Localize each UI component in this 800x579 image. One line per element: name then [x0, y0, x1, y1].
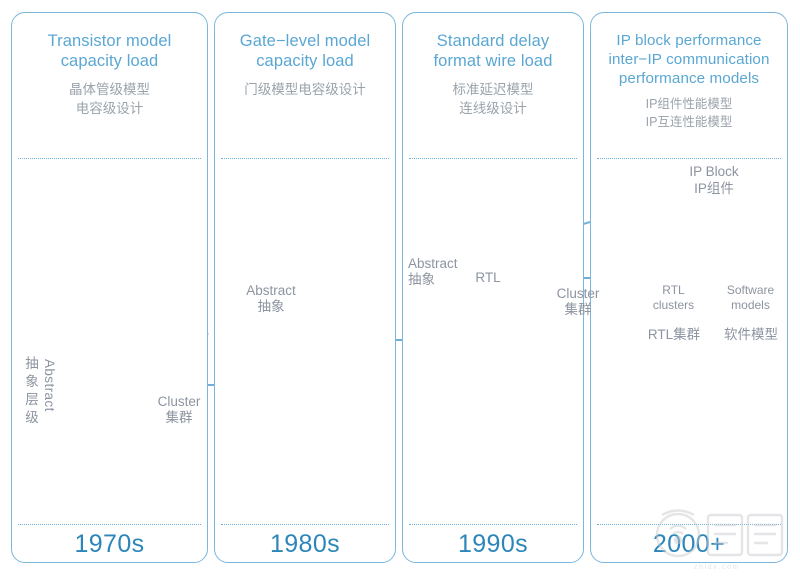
software-model-caption: 软件模型: [717, 327, 785, 343]
flow-label-en: Cluster: [547, 286, 609, 302]
stack-label-line1: Software: [726, 283, 775, 298]
flow-label-cn: 集群: [146, 410, 212, 426]
divider-top: [409, 158, 577, 159]
flow-label-abstract-3: Abstract 抽象: [408, 256, 468, 288]
ip-label-cn: IP组件: [650, 180, 778, 197]
divider-top: [18, 158, 201, 159]
axis-label-cn: 抽象层级: [22, 355, 42, 427]
flow-label-en: Abstract: [408, 256, 468, 272]
flow-label-cluster-1: Cluster 集群: [146, 394, 212, 426]
ip-label-en: IP Block: [650, 163, 778, 180]
diagram-canvas: Transistor model capacity load 晶体管级模型 电容…: [0, 0, 800, 579]
era-year: 1990s: [403, 524, 583, 564]
card-title-en: Standard delay format wire load: [413, 31, 573, 71]
card-title-cn: 标准延迟模型 连线级设计: [413, 80, 573, 118]
rtl-cluster-caption: RTL集群: [640, 327, 708, 343]
stack-label-line2: models: [726, 298, 775, 313]
era-year: 2000+: [591, 524, 787, 564]
card-header: Gate−level model capacity load 门级模型电容级设计: [215, 13, 395, 99]
card-header: IP block performance inter−IP communicat…: [591, 13, 787, 131]
flow-label-cn: 抽象: [238, 299, 304, 315]
divider-top: [597, 158, 781, 159]
card-header: Standard delay format wire load 标准延迟模型 连…: [403, 13, 583, 118]
flow-label-abstract-2: Abstract 抽象: [238, 283, 304, 315]
flow-label-cluster-3: Cluster 集群: [547, 286, 609, 318]
flow-label-cn: 抽象: [408, 272, 468, 288]
stack-caption: 软件模型: [717, 327, 785, 343]
stack-label-line2: clusters: [649, 298, 698, 313]
card-header: Transistor model capacity load 晶体管级模型 电容…: [12, 13, 207, 118]
rtl-document-label: RTL: [466, 270, 510, 286]
card-title-cn: IP组件性能模型 IP互连性能模型: [601, 95, 777, 131]
era-year: 1980s: [215, 524, 395, 564]
era-card-transistor[interactable]: Transistor model capacity load 晶体管级模型 电容…: [11, 12, 208, 563]
software-model-stack-label: Software models: [726, 283, 775, 313]
flow-label-en: Abstract: [238, 283, 304, 299]
axis-label-en: Abstract: [42, 359, 57, 412]
ip-block-label: IP Block IP组件: [650, 163, 778, 197]
card-title-en: IP block performance inter−IP communicat…: [601, 31, 777, 88]
flow-label-en: Cluster: [146, 394, 212, 410]
stack-label-line1: RTL: [649, 283, 698, 298]
flow-label-cn: 集群: [547, 302, 609, 318]
doc-label: RTL: [466, 270, 510, 286]
stack-caption: RTL集群: [640, 327, 708, 343]
card-title-cn: 门级模型电容级设计: [225, 80, 385, 99]
card-title-en: Gate−level model capacity load: [225, 31, 385, 71]
card-title-en: Transistor model capacity load: [22, 31, 197, 71]
rtl-cluster-stack-label: RTL clusters: [649, 283, 698, 313]
era-year: 1970s: [12, 524, 207, 564]
divider-top: [221, 158, 389, 159]
card-title-cn: 晶体管级模型 电容级设计: [22, 80, 197, 118]
